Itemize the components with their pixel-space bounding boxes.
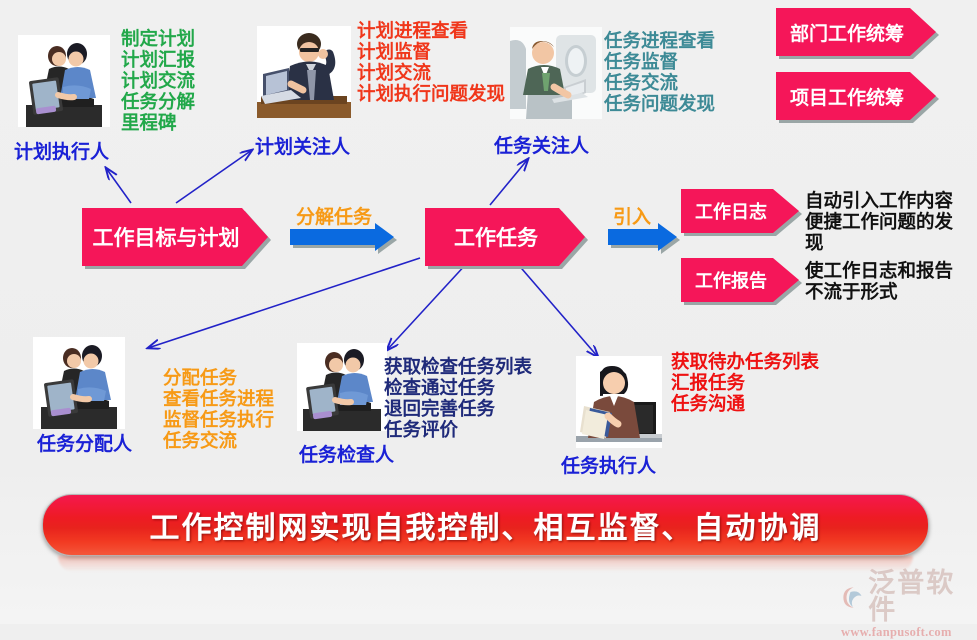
- task-assigner-capabilities: 分配任务 查看任务进程 监督任务执行 任务交流: [163, 369, 274, 453]
- fanpu-logo-icon: [841, 584, 866, 611]
- role-label-plan-follower: 计划关注人: [255, 132, 350, 159]
- task-checker-photo: [297, 343, 387, 431]
- task-follower-capabilities: 任务进程查看 任务监督 任务交流 任务问题发现: [604, 32, 715, 116]
- line-task-to-task-follower: [490, 159, 528, 205]
- task-executor-photo: [576, 356, 662, 448]
- line-task-to-task-checker: [387, 262, 468, 350]
- chevron-work-report[interactable]: 工作报告: [681, 258, 799, 302]
- diagram-canvas: 制定计划 计划汇报 计划交流 任务分解 里程碑 计划进程查看 计划监督 计划交流…: [0, 0, 977, 624]
- bottom-banner: 工作控制网实现自我控制、相互监督、自动协调: [42, 494, 929, 556]
- chevron-label: 部门工作统筹: [776, 19, 936, 46]
- two-people-tablet-icon: [18, 35, 110, 127]
- man-airplane-laptop-icon: [510, 27, 602, 119]
- plan-executor-capabilities: 制定计划 计划汇报 计划交流 任务分解 里程碑: [121, 30, 195, 134]
- flow-arrow-label-introduce: 引入: [613, 202, 651, 229]
- plan-follower-capabilities: 计划进程查看 计划监督 计划交流 计划执行问题发现: [357, 22, 505, 106]
- chevron-dept-coordination[interactable]: 部门工作统筹: [776, 8, 936, 56]
- chevron-label: 工作任务: [425, 222, 585, 252]
- role-label-task-follower: 任务关注人: [494, 131, 589, 158]
- task-checker-capabilities: 获取检查任务列表 检查通过任务 退回完善任务 任务评价: [384, 358, 532, 442]
- bottom-banner-text: 工作控制网实现自我控制、相互监督、自动协调: [150, 503, 822, 547]
- plan-executor-photo: [18, 35, 110, 127]
- businessman-laptop-icon: [257, 26, 351, 118]
- flow-arrow-1-shadow: [293, 226, 397, 254]
- role-label-task-checker: 任务检查人: [299, 440, 394, 467]
- flow-arrow-2-shadow: [611, 226, 680, 254]
- role-label-plan-executor: 计划执行人: [14, 137, 109, 164]
- chevron-label: 项目工作统筹: [776, 83, 936, 110]
- line-task-to-task-executor: [516, 262, 598, 357]
- businesswoman-folder-icon: [576, 356, 662, 448]
- work-log-note: 自动引入工作内容 便捷工作问题的发 现: [805, 192, 953, 255]
- chevron-work-task[interactable]: 工作任务: [425, 208, 585, 266]
- flow-arrow-label-decompose: 分解任务: [296, 202, 372, 229]
- logo-url: www.fanpusoft.com: [841, 625, 977, 640]
- work-report-note: 使工作日志和报告 不流于形式: [805, 262, 953, 304]
- chevron-goal-and-plan[interactable]: 工作目标与计划: [82, 208, 268, 266]
- chevron-face: 工作任务: [425, 208, 585, 266]
- plan-follower-photo: [257, 26, 351, 118]
- role-label-task-assigner: 任务分配人: [37, 429, 132, 456]
- logo-name: 泛普软件: [868, 570, 977, 624]
- task-follower-photo: [510, 27, 602, 119]
- chevron-face: 部门工作统筹: [776, 8, 936, 56]
- line-goal-to-plan-follower: [176, 150, 252, 203]
- brand-logo: 泛普软件 www.fanpusoft.com: [841, 570, 977, 640]
- chevron-face: 工作目标与计划: [82, 208, 268, 266]
- chevron-work-log[interactable]: 工作日志: [681, 189, 799, 233]
- role-label-task-executor: 任务执行人: [561, 451, 656, 478]
- chevron-proj-coordination[interactable]: 项目工作统筹: [776, 72, 936, 120]
- task-executor-capabilities: 获取待办任务列表 汇报任务 任务沟通: [671, 353, 819, 416]
- chevron-face: 项目工作统筹: [776, 72, 936, 120]
- two-people-tablet-icon: [297, 343, 387, 431]
- chevron-label: 工作目标与计划: [82, 222, 268, 252]
- chevron-label: 工作日志: [681, 198, 799, 224]
- chevron-label: 工作报告: [681, 267, 799, 293]
- line-task-to-task-assigner: [148, 258, 420, 348]
- banner-reflection: [58, 556, 913, 572]
- line-goal-to-plan-executor: [106, 168, 131, 203]
- two-people-tablet-icon: [33, 337, 125, 429]
- task-assigner-photo: [33, 337, 125, 429]
